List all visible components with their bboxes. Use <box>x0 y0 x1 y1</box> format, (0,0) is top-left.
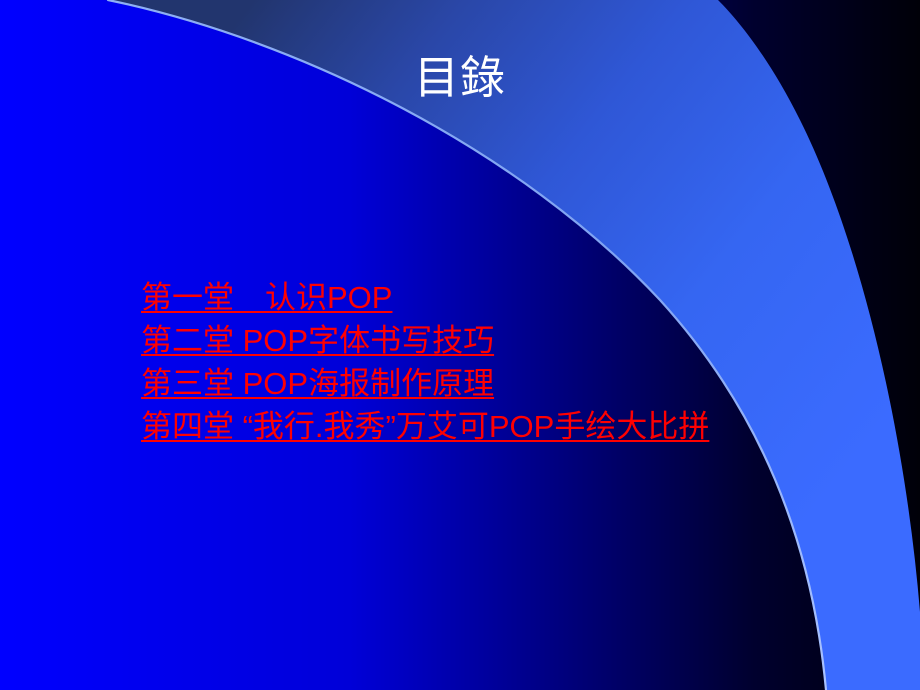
page-title: 目錄 <box>0 52 920 104</box>
list-item[interactable]: 第三堂 POP海报制作原理 <box>141 362 709 405</box>
list-item[interactable]: 第二堂 POP字体书写技巧 <box>141 319 709 362</box>
list-item[interactable]: 第一堂 认识POP <box>141 276 709 319</box>
list-item[interactable]: 第四堂 “我行.我秀”万艾可POP手绘大比拼 <box>141 405 709 448</box>
table-of-contents: 第一堂 认识POP 第二堂 POP字体书写技巧 第三堂 POP海报制作原理 第四… <box>141 276 709 448</box>
presentation-slide: 目錄 第一堂 认识POP 第二堂 POP字体书写技巧 第三堂 POP海报制作原理… <box>0 0 920 690</box>
